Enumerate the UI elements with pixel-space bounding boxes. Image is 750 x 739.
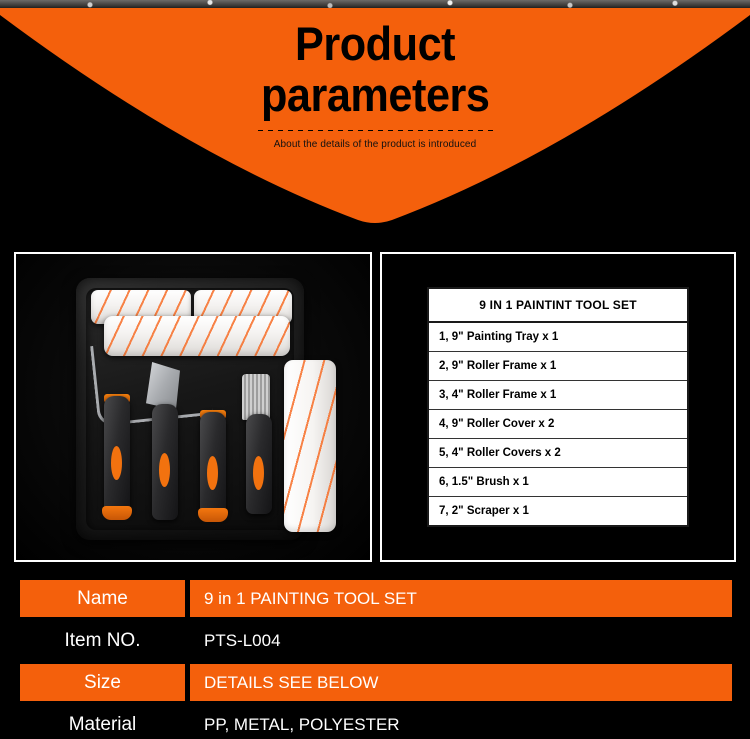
product-photo-panel [14, 252, 372, 562]
scraper-blade [146, 362, 180, 410]
spec-value: PP, METAL, POLYESTER [190, 706, 732, 739]
spec-value: PTS-L004 [190, 622, 732, 659]
specification-table: Name 9 in 1 PAINTING TOOL SET Item NO. P… [20, 580, 732, 739]
spec-label: Name [20, 580, 185, 617]
list-item: 1, 9" Painting Tray x 1 [429, 323, 687, 352]
list-item: 5, 4" Roller Covers x 2 [429, 439, 687, 468]
tool-handle-cap-1 [102, 506, 132, 520]
roller-cover-large-2 [284, 360, 336, 532]
content-panels: 9 IN 1 PAINTINT TOOL SET 1, 9" Painting … [14, 252, 736, 562]
table-row: Name 9 in 1 PAINTING TOOL SET [20, 580, 732, 617]
spec-label: Size [20, 664, 185, 701]
banner-triangle [0, 7, 750, 223]
spec-value: DETAILS SEE BELOW [190, 664, 732, 701]
list-item: 4, 9" Roller Cover x 2 [429, 410, 687, 439]
table-row: Item NO. PTS-L004 [20, 622, 732, 659]
list-item: 6, 1.5" Brush x 1 [429, 468, 687, 497]
list-item: 7, 2" Scraper x 1 [429, 497, 687, 525]
spec-label: Item NO. [20, 622, 185, 659]
parts-list-table: 9 IN 1 PAINTINT TOOL SET 1, 9" Painting … [427, 287, 689, 527]
table-row: Material PP, METAL, POLYESTER [20, 706, 732, 739]
list-item: 3, 4" Roller Frame x 1 [429, 381, 687, 410]
tool-handle-1 [104, 396, 130, 514]
parts-list-panel: 9 IN 1 PAINTINT TOOL SET 1, 9" Painting … [380, 252, 736, 562]
tool-handle-cap-2 [198, 508, 228, 522]
spec-value: 9 in 1 PAINTING TOOL SET [190, 580, 732, 617]
top-texture-strip [0, 0, 750, 8]
brush-handle [246, 414, 272, 514]
spec-label: Material [20, 706, 185, 739]
list-item: 2, 9" Roller Frame x 1 [429, 352, 687, 381]
scraper-handle [152, 404, 178, 520]
product-photo [16, 254, 370, 560]
product-parameters-page: Product parameters About the details of … [0, 0, 750, 739]
tool-handle-2 [200, 412, 226, 516]
parts-list-header: 9 IN 1 PAINTINT TOOL SET [429, 289, 687, 323]
table-row: Size DETAILS SEE BELOW [20, 664, 732, 701]
